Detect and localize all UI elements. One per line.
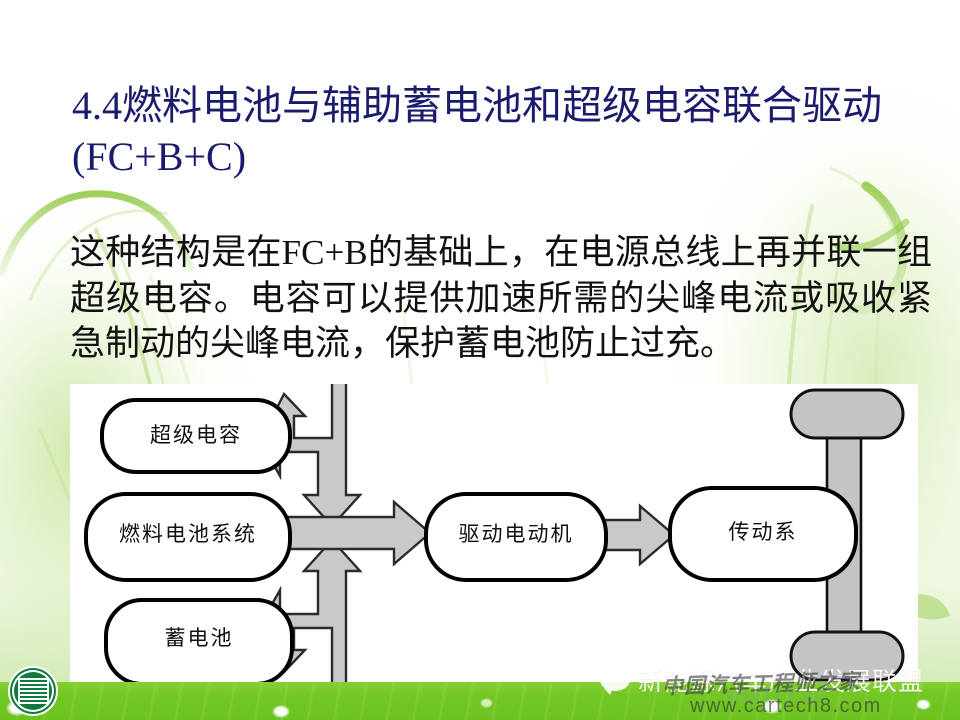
block-diagram-svg: 超级电容 燃料电池系统 蓄电池 驱动电动机 传动系 bbox=[70, 384, 918, 682]
node-supercap-label: 超级电容 bbox=[150, 423, 242, 447]
block-diagram: 超级电容 燃料电池系统 蓄电池 驱动电动机 传动系 bbox=[70, 384, 918, 682]
slide-canvas: 4.4燃料电池与辅助蓄电池和超级电容联合驱动(FC+B+C) 这种结构是在FC+… bbox=[0, 0, 960, 720]
slide-body-text: 这种结构是在FC+B的基础上，在电源总线上再并联一组超级电容。电容可以提供加速所… bbox=[70, 230, 932, 367]
node-battery[interactable]: 蓄电池 bbox=[106, 600, 292, 682]
node-fuelcell-label: 燃料电池系统 bbox=[119, 522, 257, 546]
node-motor[interactable]: 驱动电动机 bbox=[426, 494, 606, 580]
flower-icon bbox=[272, 705, 290, 718]
emblem-inner-mark bbox=[18, 678, 49, 704]
cartech-url-watermark: www.cartech8.com bbox=[690, 695, 882, 718]
node-fuelcell[interactable]: 燃料电池系统 bbox=[86, 494, 290, 580]
flower-icon bbox=[480, 698, 493, 708]
wheel-top-icon bbox=[791, 390, 903, 438]
node-driveline-label: 传动系 bbox=[729, 520, 798, 544]
flower-icon bbox=[916, 699, 931, 710]
arrow-fuelcell-motor bbox=[284, 502, 430, 564]
organization-emblem-icon bbox=[8, 666, 58, 716]
slide-title: 4.4燃料电池与辅助蓄电池和超级电容联合驱动(FC+B+C) bbox=[72, 80, 928, 182]
node-supercap[interactable]: 超级电容 bbox=[102, 400, 290, 472]
wechat-icon bbox=[600, 669, 630, 691]
node-driveline[interactable]: 传动系 bbox=[670, 488, 856, 580]
arrow-motor-driveline bbox=[600, 506, 674, 564]
node-motor-label: 驱动电动机 bbox=[459, 522, 574, 546]
node-battery-label: 蓄电池 bbox=[165, 626, 234, 650]
